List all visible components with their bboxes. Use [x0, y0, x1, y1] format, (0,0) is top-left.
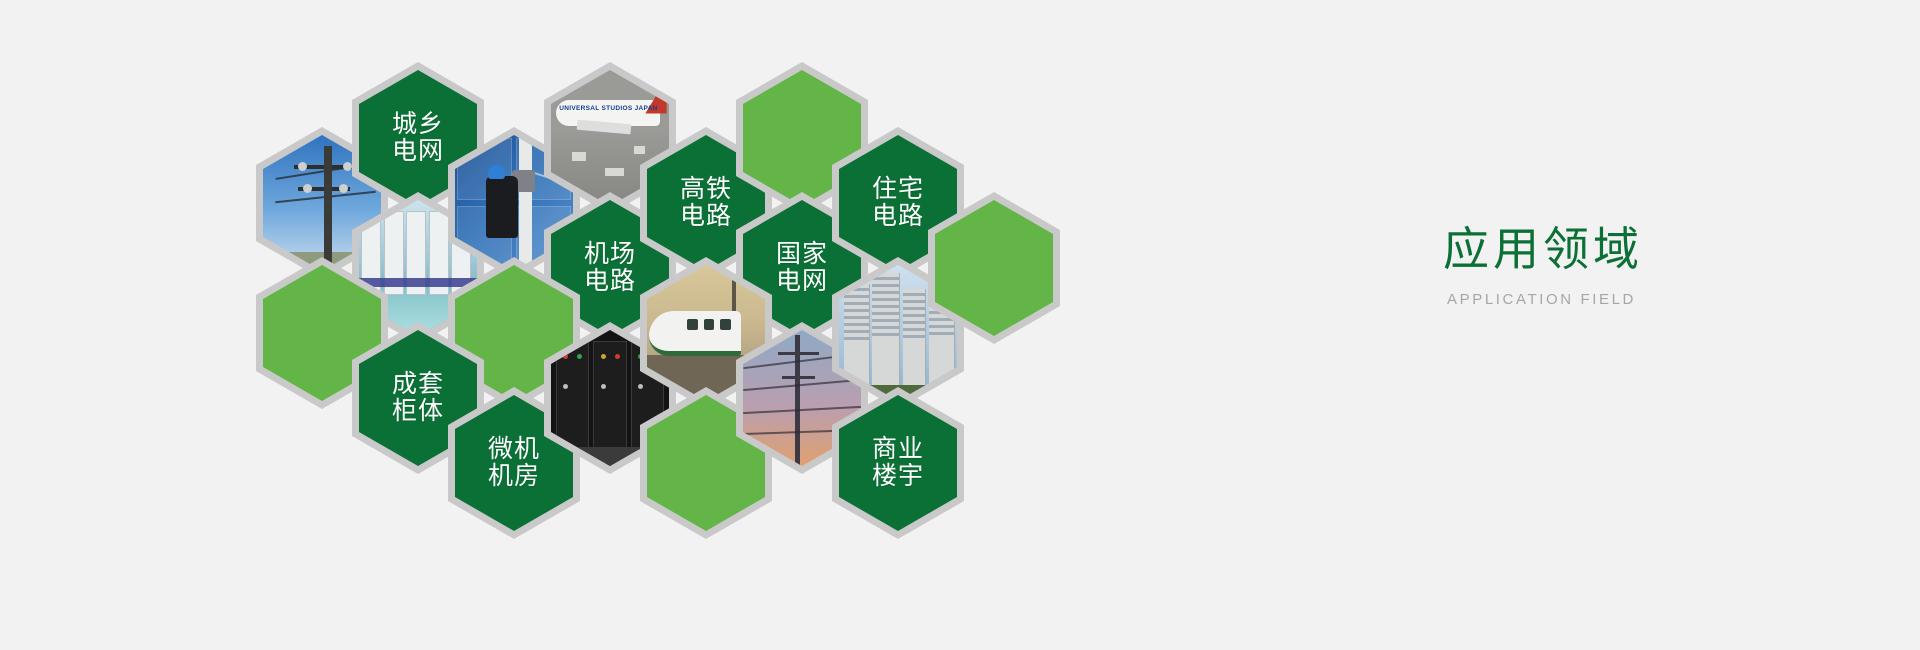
hex-label: 机场 电路 — [584, 241, 636, 295]
hex-label: 住宅 电路 — [872, 176, 924, 230]
hex-inner — [935, 200, 1053, 336]
heading-block: 应用领域 APPLICATION FIELD — [1443, 222, 1643, 308]
honeycomb-grid: 城乡 电网 UNIVERSAL STUDIOS JAPAN 机场 电路成套 柜体… — [0, 0, 1200, 650]
page-subtitle: APPLICATION FIELD — [1447, 291, 1643, 308]
hex-label: 城乡 电网 — [392, 111, 444, 165]
hex-label: 高铁 电路 — [680, 176, 732, 230]
hex-label: 微机 机房 — [488, 436, 540, 490]
page-title: 应用领域 — [1443, 222, 1643, 277]
application-field-banner: 城乡 电网 UNIVERSAL STUDIOS JAPAN 机场 电路成套 柜体… — [0, 0, 1920, 650]
hex-label: 成套 柜体 — [392, 371, 444, 425]
hex-inner: 商业 楼宇 — [839, 395, 957, 531]
hex-label: 商业 楼宇 — [872, 436, 924, 490]
hex-label: 国家 电网 — [776, 241, 828, 295]
